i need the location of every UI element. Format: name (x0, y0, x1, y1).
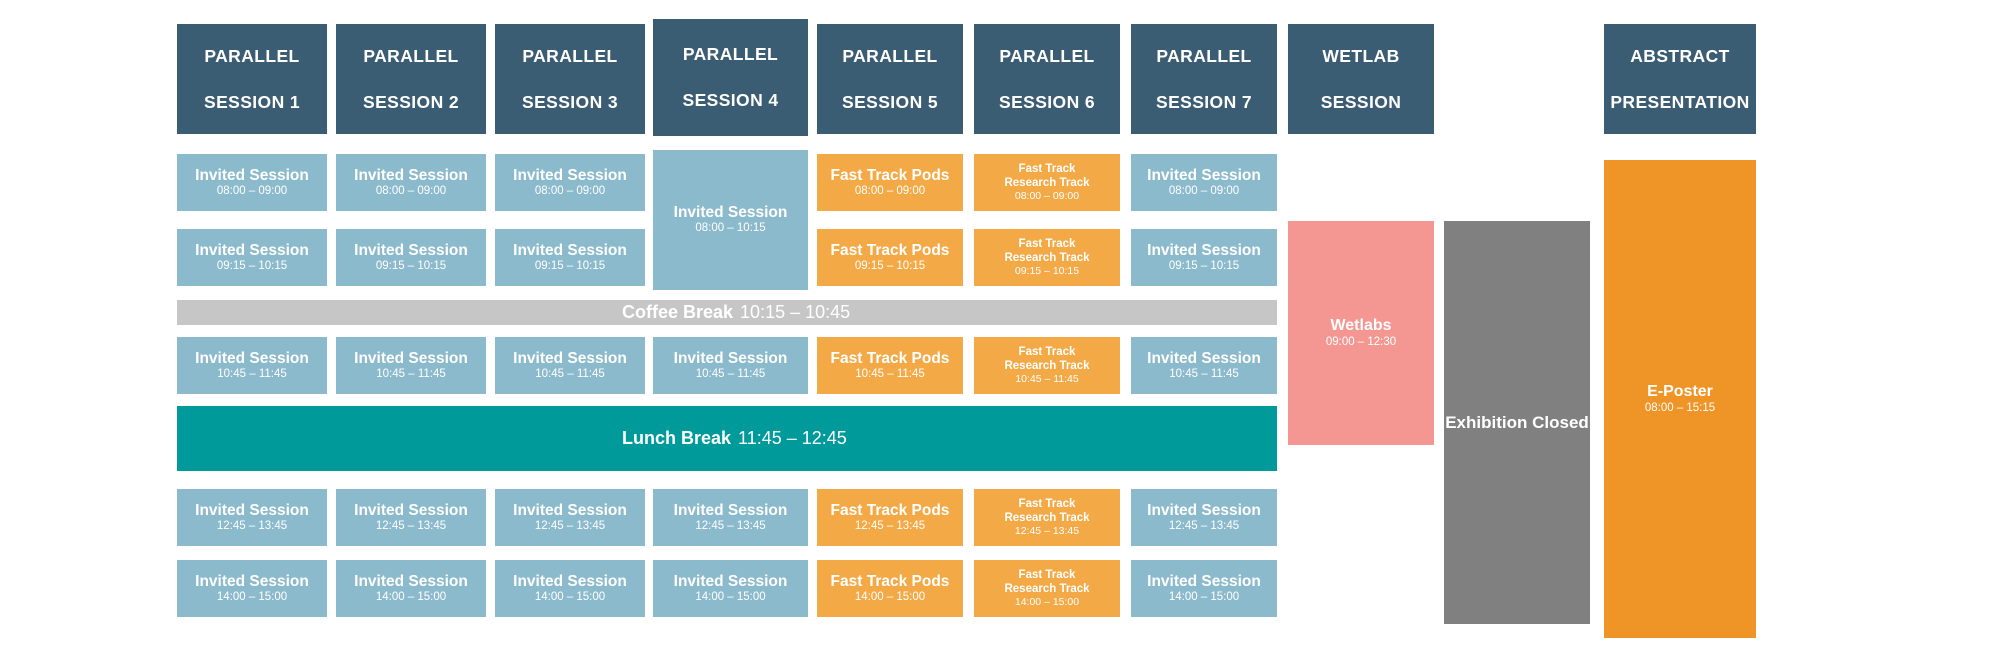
header-line2: PRESENTATION (1606, 91, 1753, 114)
session-title: Invited Session (195, 350, 309, 367)
session-time: 12:45 – 13:45 (535, 519, 605, 534)
session-cell-c6r2[interactable]: Fast Track Research Track 09:15 – 10:15 (974, 229, 1120, 286)
session-title: Fast Track Pods (831, 350, 950, 367)
session-cell-c3r5[interactable]: Invited Session 14:00 – 15:00 (495, 560, 645, 617)
session-title: Invited Session (1147, 167, 1261, 184)
session-time: 14:00 – 15:00 (1169, 590, 1239, 605)
session-title-line2: Research Track (1004, 582, 1089, 596)
lunch-break-label: Lunch Break (622, 428, 731, 449)
session-cell-c5r1[interactable]: Fast Track Pods 08:00 – 09:00 (817, 154, 963, 211)
column-header-parallel-session-1[interactable]: PARALLEL SESSION 1 (177, 24, 327, 134)
session-time: 08:00 – 09:00 (855, 184, 925, 199)
header-line2: SESSION 6 (995, 91, 1099, 114)
session-title: Fast Track Pods (831, 167, 950, 184)
session-time: 14:00 – 15:00 (376, 590, 446, 605)
session-time: 10:45 – 11:45 (217, 367, 287, 382)
session-cell-c3r3[interactable]: Invited Session 10:45 – 11:45 (495, 337, 645, 394)
session-title: Invited Session (513, 350, 627, 367)
session-time: 08:00 – 09:00 (217, 184, 287, 199)
session-time: 12:45 – 13:45 (1169, 519, 1239, 534)
header-line2: SESSION (1317, 91, 1406, 114)
session-cell-c3r4[interactable]: Invited Session 12:45 – 13:45 (495, 489, 645, 546)
column-header-parallel-session-6[interactable]: PARALLEL SESSION 6 (974, 24, 1120, 134)
session-title: Invited Session (195, 573, 309, 590)
session-time: 08:00 – 09:00 (1015, 190, 1079, 203)
column-header-parallel-session-5[interactable]: PARALLEL SESSION 5 (817, 24, 963, 134)
session-cell-c5r2[interactable]: Fast Track Pods 09:15 – 10:15 (817, 229, 963, 286)
session-time: 08:00 – 10:15 (695, 221, 765, 236)
session-cell-c2r4[interactable]: Invited Session 12:45 – 13:45 (336, 489, 486, 546)
session-cell-c5r3[interactable]: Fast Track Pods 10:45 – 11:45 (817, 337, 963, 394)
session-time: 10:45 – 11:45 (855, 367, 925, 382)
header-line2: SESSION 5 (838, 91, 942, 114)
session-cell-c6r4[interactable]: Fast Track Research Track 12:45 – 13:45 (974, 489, 1120, 546)
session-time: 08:00 – 09:00 (1169, 184, 1239, 199)
eposter-time: 08:00 – 15:15 (1645, 401, 1715, 416)
session-time: 12:45 – 13:45 (855, 519, 925, 534)
session-title: Invited Session (674, 573, 788, 590)
session-time: 08:00 – 09:00 (376, 184, 446, 199)
session-title-line2: Research Track (1004, 511, 1089, 525)
session-cell-c5r5[interactable]: Fast Track Pods 14:00 – 15:00 (817, 560, 963, 617)
session-title: Invited Session (513, 502, 627, 519)
session-cell-c7r1[interactable]: Invited Session 08:00 – 09:00 (1131, 154, 1277, 211)
session-cell-c7r4[interactable]: Invited Session 12:45 – 13:45 (1131, 489, 1277, 546)
session-cell-c5r4[interactable]: Fast Track Pods 12:45 – 13:45 (817, 489, 963, 546)
session-time: 09:15 – 10:15 (1169, 259, 1239, 274)
session-title: Invited Session (354, 573, 468, 590)
session-title: Invited Session (1147, 350, 1261, 367)
session-time: 14:00 – 15:00 (535, 590, 605, 605)
exhibition-closed-panel[interactable]: Exhibition Closed (1444, 221, 1590, 624)
session-time: 14:00 – 15:00 (217, 590, 287, 605)
session-title-line2: Research Track (1004, 251, 1089, 265)
column-header-parallel-session-4[interactable]: PARALLEL SESSION 4 (653, 19, 808, 136)
header-line1: PARALLEL (995, 45, 1099, 68)
session-cell-c3r1[interactable]: Invited Session 08:00 – 09:00 (495, 154, 645, 211)
header-line1: PARALLEL (1152, 45, 1256, 68)
session-cell-c4r1-merged[interactable]: Invited Session 08:00 – 10:15 (653, 150, 808, 290)
session-title-line2: Research Track (1004, 359, 1089, 373)
session-cell-c7r5[interactable]: Invited Session 14:00 – 15:00 (1131, 560, 1277, 617)
header-line2: SESSION 3 (518, 91, 622, 114)
header-line1: PARALLEL (359, 45, 463, 68)
session-cell-c6r1[interactable]: Fast Track Research Track 08:00 – 09:00 (974, 154, 1120, 211)
session-time: 12:45 – 13:45 (376, 519, 446, 534)
session-title: Invited Session (513, 167, 627, 184)
header-line1: ABSTRACT (1606, 45, 1753, 68)
session-title: Invited Session (1147, 502, 1261, 519)
session-time: 09:15 – 10:15 (1015, 265, 1079, 278)
session-title-line1: Fast Track (1019, 237, 1076, 251)
session-title: Invited Session (354, 167, 468, 184)
session-title-line1: Fast Track (1019, 497, 1076, 511)
session-cell-c6r5[interactable]: Fast Track Research Track 14:00 – 15:00 (974, 560, 1120, 617)
session-time: 08:00 – 09:00 (535, 184, 605, 199)
session-time: 10:45 – 11:45 (376, 367, 446, 382)
lunch-break-time: 11:45 – 12:45 (738, 428, 847, 449)
session-title: Invited Session (513, 242, 627, 259)
session-title: Invited Session (354, 350, 468, 367)
session-title: Invited Session (513, 573, 627, 590)
session-time: 09:15 – 10:15 (376, 259, 446, 274)
session-title-line2: Research Track (1004, 176, 1089, 190)
session-title: Invited Session (354, 502, 468, 519)
session-title: Invited Session (195, 242, 309, 259)
wetlabs-time: 09:00 – 12:30 (1326, 335, 1396, 350)
session-title-line1: Fast Track (1019, 162, 1076, 176)
session-title: Invited Session (674, 502, 788, 519)
session-cell-c4r4[interactable]: Invited Session 12:45 – 13:45 (653, 489, 808, 546)
session-time: 12:45 – 13:45 (217, 519, 287, 534)
session-cell-c4r5[interactable]: Invited Session 14:00 – 15:00 (653, 560, 808, 617)
session-title-line1: Fast Track (1019, 345, 1076, 359)
session-time: 10:45 – 11:45 (696, 367, 766, 382)
session-title: Invited Session (674, 204, 788, 221)
session-time: 14:00 – 15:00 (855, 590, 925, 605)
header-line2: SESSION 7 (1152, 91, 1256, 114)
session-cell-c4r3[interactable]: Invited Session 10:45 – 11:45 (653, 337, 808, 394)
session-time: 14:00 – 15:00 (1015, 596, 1079, 609)
session-time: 14:00 – 15:00 (695, 590, 765, 605)
coffee-break-bar: Coffee Break 10:15 – 10:45 (177, 300, 1277, 325)
wetlabs-title: Wetlabs (1326, 316, 1396, 335)
session-cell-c1r2[interactable]: Invited Session 09:15 – 10:15 (177, 229, 327, 286)
session-time: 10:45 – 11:45 (1169, 367, 1239, 382)
column-header-parallel-session-3[interactable]: PARALLEL SESSION 3 (495, 24, 645, 134)
header-line2: SESSION 1 (200, 91, 304, 114)
session-title: Invited Session (354, 242, 468, 259)
session-title: Fast Track Pods (831, 502, 950, 519)
session-cell-c1r3[interactable]: Invited Session 10:45 – 11:45 (177, 337, 327, 394)
session-title-line1: Fast Track (1019, 568, 1076, 582)
header-line1: WETLAB (1317, 45, 1406, 68)
session-time: 10:45 – 11:45 (1015, 373, 1078, 386)
coffee-break-label: Coffee Break (622, 302, 733, 323)
session-title: Invited Session (1147, 573, 1261, 590)
session-time: 12:45 – 13:45 (695, 519, 765, 534)
session-title: Fast Track Pods (831, 242, 950, 259)
session-title: Invited Session (195, 502, 309, 519)
column-header-abstract-presentation[interactable]: ABSTRACT PRESENTATION (1604, 24, 1756, 134)
session-title: Invited Session (195, 167, 309, 184)
programme-grid: PARALLEL SESSION 1 PARALLEL SESSION 2 PA… (0, 0, 2000, 657)
session-time: 10:45 – 11:45 (535, 367, 605, 382)
eposter-title: E-Poster (1645, 382, 1715, 401)
lunch-break-bar: Lunch Break 11:45 – 12:45 (177, 406, 1277, 471)
column-header-wetlab-session[interactable]: WETLAB SESSION (1288, 24, 1434, 134)
header-line1: PARALLEL (518, 45, 622, 68)
session-cell-c6r3[interactable]: Fast Track Research Track 10:45 – 11:45 (974, 337, 1120, 394)
session-cell-c3r2[interactable]: Invited Session 09:15 – 10:15 (495, 229, 645, 286)
session-cell-c2r1[interactable]: Invited Session 08:00 – 09:00 (336, 154, 486, 211)
session-cell-c7r3[interactable]: Invited Session 10:45 – 11:45 (1131, 337, 1277, 394)
eposter-panel[interactable]: E-Poster 08:00 – 15:15 (1604, 160, 1756, 638)
header-line2: SESSION 4 (679, 89, 783, 112)
coffee-break-time: 10:15 – 10:45 (740, 302, 850, 323)
column-header-parallel-session-7[interactable]: PARALLEL SESSION 7 (1131, 24, 1277, 134)
session-title: Invited Session (674, 350, 788, 367)
session-time: 09:15 – 10:15 (217, 259, 287, 274)
session-cell-c1r4[interactable]: Invited Session 12:45 – 13:45 (177, 489, 327, 546)
session-cell-c1r5[interactable]: Invited Session 14:00 – 15:00 (177, 560, 327, 617)
session-cell-c1r1[interactable]: Invited Session 08:00 – 09:00 (177, 154, 327, 211)
session-cell-c2r2[interactable]: Invited Session 09:15 – 10:15 (336, 229, 486, 286)
session-title: Invited Session (1147, 242, 1261, 259)
header-line1: PARALLEL (679, 43, 783, 66)
session-time: 09:15 – 10:15 (855, 259, 925, 274)
session-title: Fast Track Pods (831, 573, 950, 590)
header-line2: SESSION 2 (359, 91, 463, 114)
session-time: 12:45 – 13:45 (1015, 525, 1079, 538)
wetlabs-panel[interactable]: Wetlabs 09:00 – 12:30 (1288, 221, 1434, 445)
session-cell-c2r5[interactable]: Invited Session 14:00 – 15:00 (336, 560, 486, 617)
header-line1: PARALLEL (200, 45, 304, 68)
exhibition-closed-label: Exhibition Closed (1445, 413, 1589, 432)
header-line1: PARALLEL (838, 45, 942, 68)
session-time: 09:15 – 10:15 (535, 259, 605, 274)
session-cell-c2r3[interactable]: Invited Session 10:45 – 11:45 (336, 337, 486, 394)
column-header-parallel-session-2[interactable]: PARALLEL SESSION 2 (336, 24, 486, 134)
session-cell-c7r2[interactable]: Invited Session 09:15 – 10:15 (1131, 229, 1277, 286)
